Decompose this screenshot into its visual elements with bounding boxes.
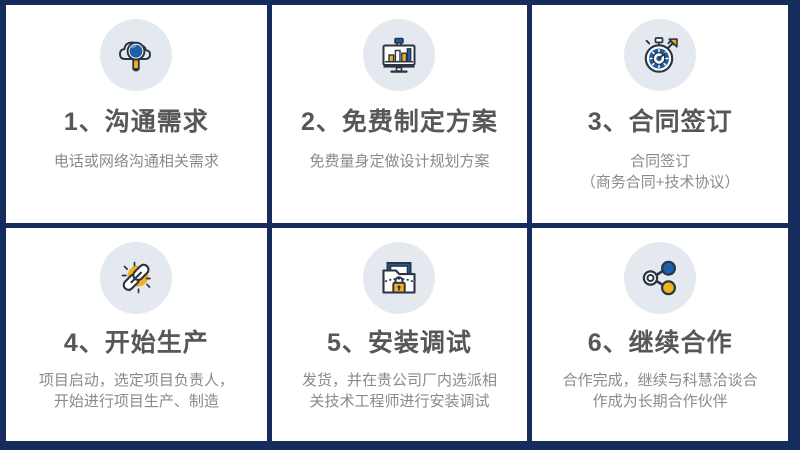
step-card-3[interactable]: 3、合同签订 合同签订 （商务合同+技术协议） — [527, 5, 788, 223]
step-title: 3、合同签订 — [588, 109, 733, 137]
step-description: 合同签订 （商务合同+技术协议） — [573, 151, 748, 195]
share-nodes-icon — [624, 242, 696, 314]
frame-right-border — [788, 0, 800, 450]
step-description: 电话或网络沟通相关需求 — [46, 151, 227, 173]
frame-bottom-border — [0, 441, 800, 450]
step-title: 4、开始生产 — [64, 330, 209, 358]
steps-grid: 1、沟通需求 电话或网络沟通相关需求 — [6, 5, 788, 441]
step-description: 项目启动，选定项目负责人， 开始进行项目生产、制造 — [31, 370, 242, 414]
step-card-1[interactable]: 1、沟通需求 电话或网络沟通相关需求 — [6, 5, 267, 223]
step-title: 6、继续合作 — [588, 330, 733, 358]
step-card-2[interactable]: 2、免费制定方案 免费量身定做设计规划方案 — [267, 5, 528, 223]
step-title: 2、免费制定方案 — [301, 109, 498, 137]
monitor-bar-chart-icon — [363, 19, 435, 91]
stopwatch-target-arrow-icon — [624, 19, 696, 91]
step-title: 1、沟通需求 — [64, 109, 209, 137]
process-steps-infographic: 1、沟通需求 电话或网络沟通相关需求 — [0, 0, 800, 450]
step-description: 发货，并在贵公司厂内选派相 关技术工程师进行安装调试 — [294, 370, 505, 414]
chain-link-icon — [100, 242, 172, 314]
step-description: 合作完成，继续与科慧洽谈合 作成为长期合作伙伴 — [555, 370, 766, 414]
step-description: 免费量身定做设计规划方案 — [301, 151, 497, 173]
cloud-search-icon — [100, 19, 172, 91]
step-title: 5、安装调试 — [327, 330, 472, 358]
folder-lock-icon — [363, 242, 435, 314]
step-card-4[interactable]: 4、开始生产 项目启动，选定项目负责人， 开始进行项目生产、制造 — [6, 223, 267, 441]
step-card-5[interactable]: 5、安装调试 发货，并在贵公司厂内选派相 关技术工程师进行安装调试 — [267, 223, 528, 441]
step-card-6[interactable]: 6、继续合作 合作完成，继续与科慧洽谈合 作成为长期合作伙伴 — [527, 223, 788, 441]
